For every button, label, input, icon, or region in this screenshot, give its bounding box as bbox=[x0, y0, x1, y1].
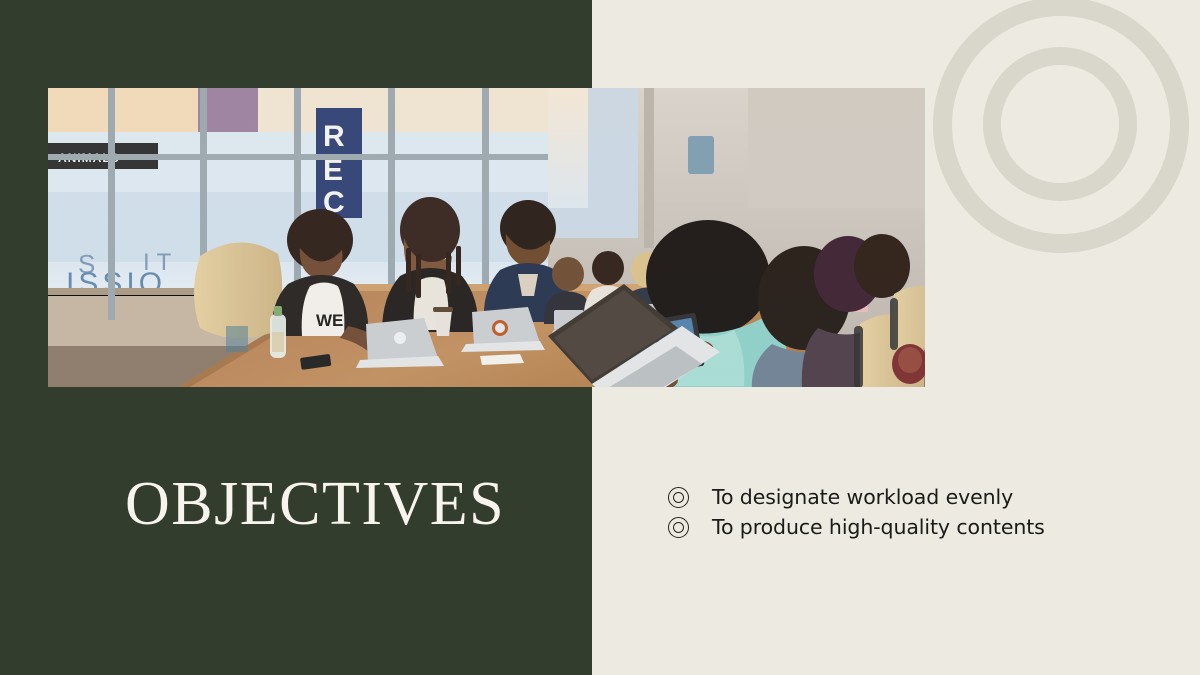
list-item-label: To produce high-quality contents bbox=[712, 512, 1045, 542]
objectives-list: To designate workload evenly To produce … bbox=[668, 482, 1138, 542]
meeting-photo: R E C ANIMALS S IT ISSIO bbox=[48, 88, 925, 387]
double-circle-bullet-icon bbox=[668, 487, 689, 508]
list-item-label: To designate workload evenly bbox=[712, 482, 1013, 512]
slide: R E C ANIMALS S IT ISSIO bbox=[0, 0, 1200, 675]
list-item: To designate workload evenly bbox=[668, 482, 1138, 512]
page-title: OBJECTIVES bbox=[125, 468, 505, 540]
double-circle-bullet-icon bbox=[668, 517, 689, 538]
list-item: To produce high-quality contents bbox=[668, 512, 1138, 542]
